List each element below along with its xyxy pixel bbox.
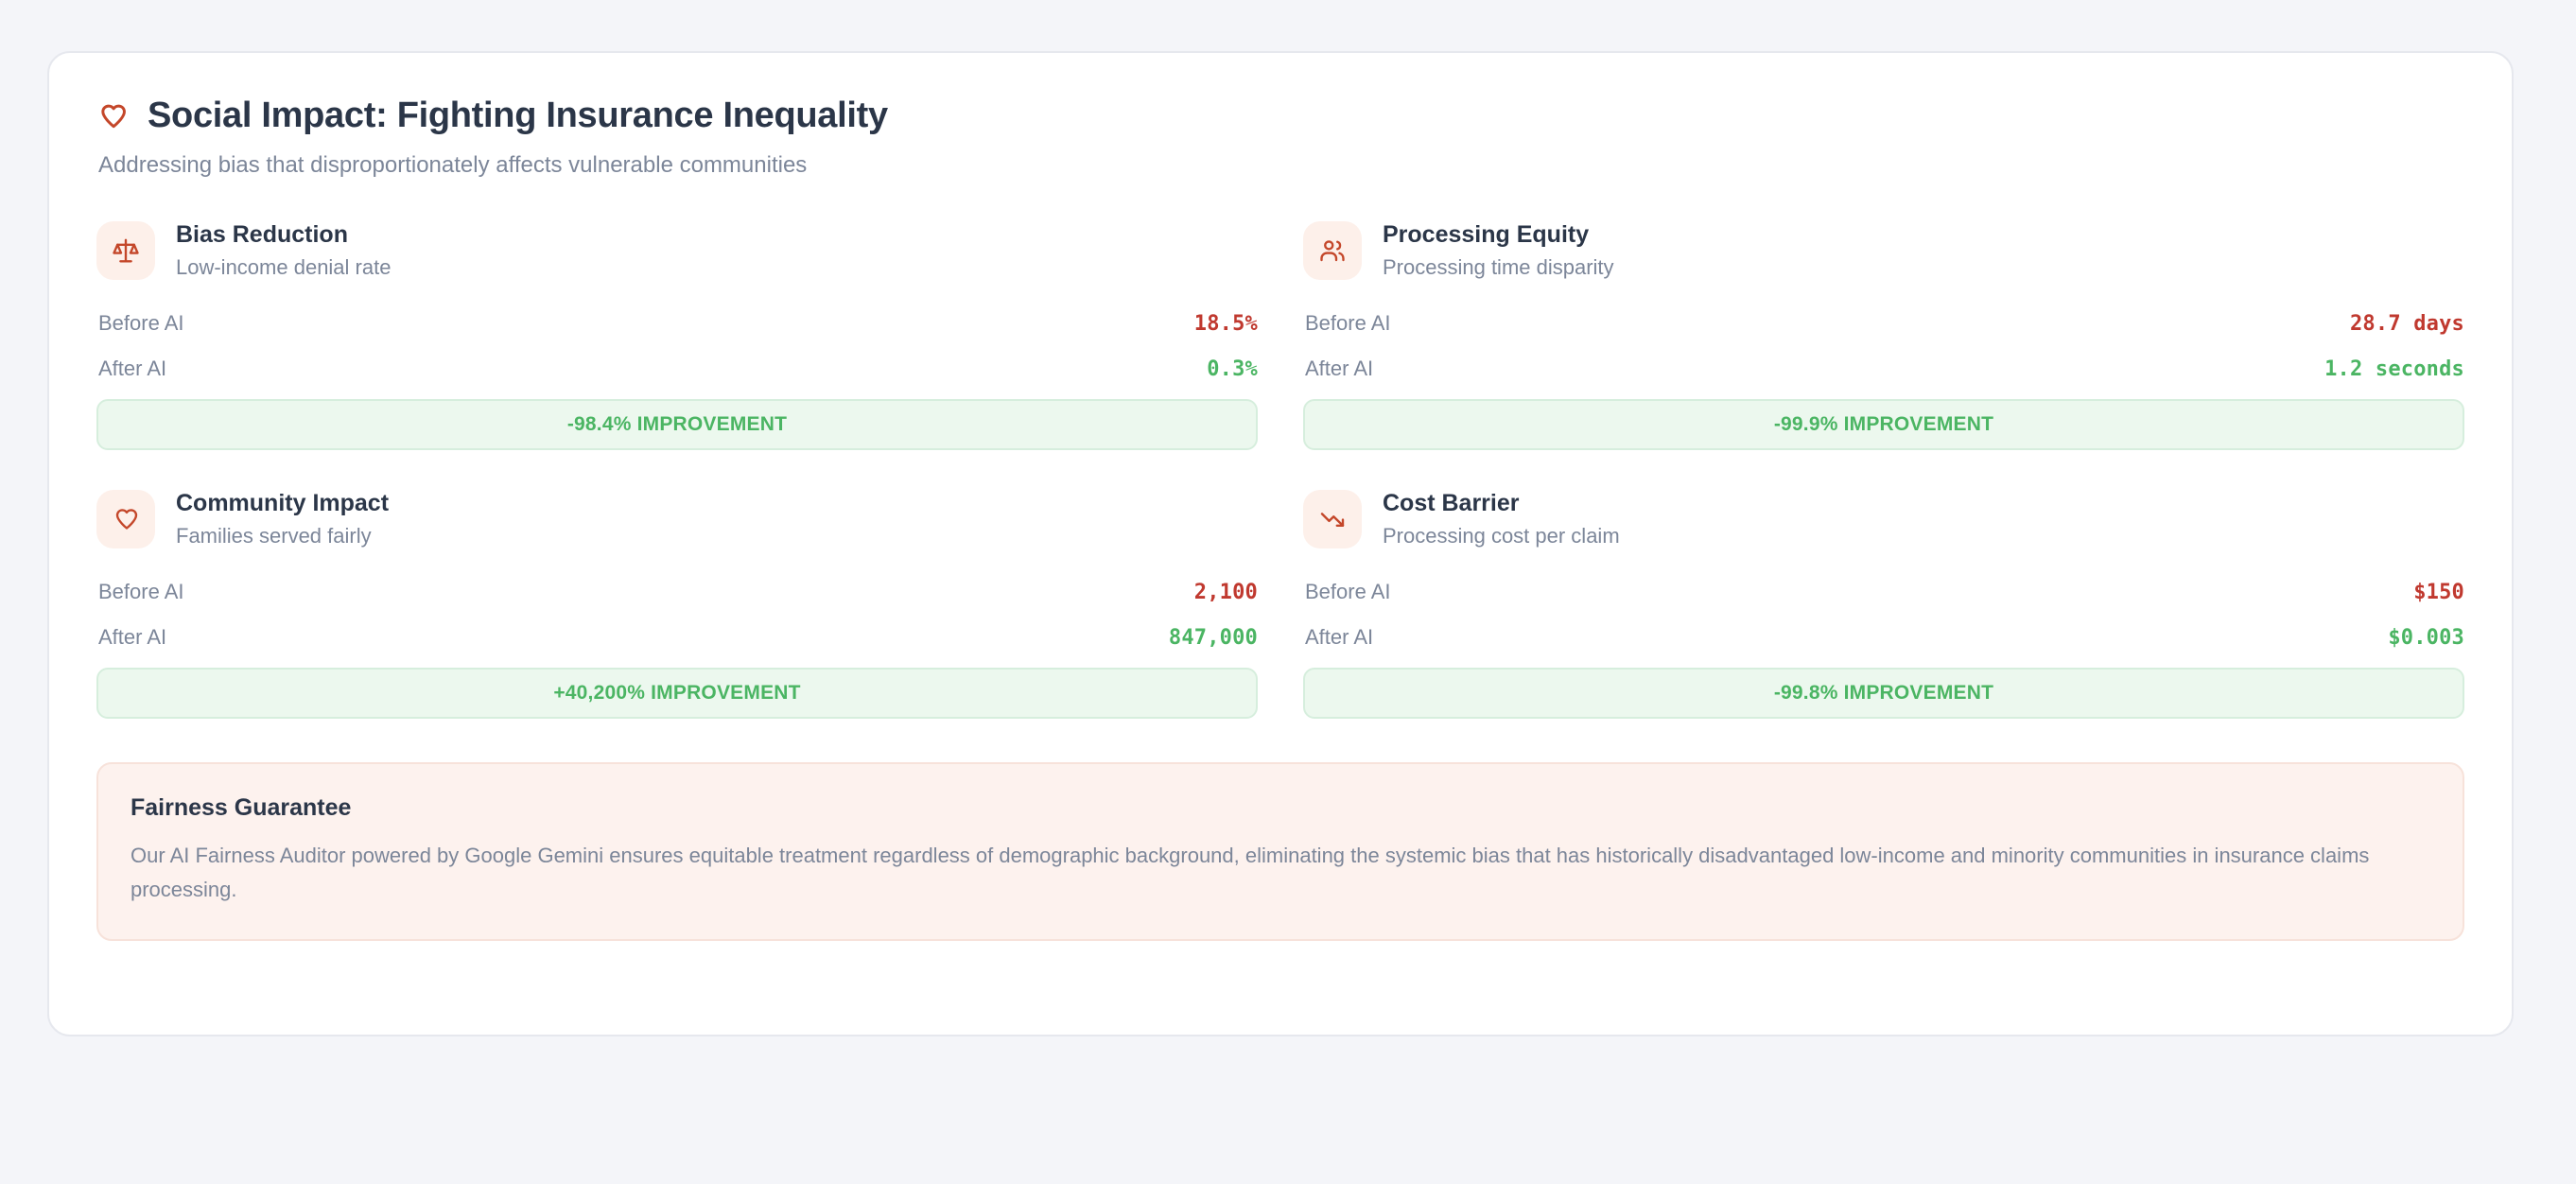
fairness-guarantee-text: Our AI Fairness Auditor powered by Googl… (131, 839, 2419, 906)
after-value: $0.003 (2388, 626, 2464, 650)
metric-label: Processing Equity (1383, 221, 1614, 249)
after-row: After AI 847,000 (96, 622, 1258, 653)
before-row: Before AI $150 (1303, 577, 2464, 607)
metric-label: Bias Reduction (176, 221, 391, 249)
trending-down-icon (1303, 490, 1362, 548)
before-value: 28.7 days (2350, 312, 2464, 336)
page-background: Social Impact: Fighting Insurance Inequa… (0, 0, 2576, 1184)
metric-card-cost-barrier: Cost Barrier Processing cost per claim B… (1303, 490, 2464, 719)
metric-label: Community Impact (176, 490, 389, 517)
metric-card-processing-equity: Processing Equity Processing time dispar… (1303, 221, 2464, 450)
before-row: Before AI 2,100 (96, 577, 1258, 607)
scales-icon (96, 221, 155, 280)
metrics-grid: Bias Reduction Low-income denial rate Be… (96, 221, 2464, 719)
title-row: Social Impact: Fighting Insurance Inequa… (96, 96, 2464, 136)
after-label: After AI (1305, 625, 1373, 650)
fairness-guarantee-title: Fairness Guarantee (131, 794, 2430, 822)
social-impact-panel: Social Impact: Fighting Insurance Inequa… (47, 51, 2514, 1036)
before-label: Before AI (98, 580, 184, 604)
page-title: Social Impact: Fighting Insurance Inequa… (148, 96, 888, 136)
metric-head: Processing Equity Processing time dispar… (1303, 221, 2464, 280)
after-row: After AI 0.3% (96, 354, 1258, 384)
before-row: Before AI 18.5% (96, 308, 1258, 339)
metric-text: Bias Reduction Low-income denial rate (176, 221, 391, 280)
improvement-badge: -99.8% IMPROVEMENT (1303, 668, 2464, 719)
before-label: Before AI (98, 311, 184, 336)
improvement-badge: +40,200% IMPROVEMENT (96, 668, 1258, 719)
before-label: Before AI (1305, 311, 1391, 336)
panel-header: Social Impact: Fighting Insurance Inequa… (96, 96, 2464, 180)
users-icon (1303, 221, 1362, 280)
before-value: $150 (2413, 581, 2464, 604)
after-value: 1.2 seconds (2324, 357, 2464, 381)
after-label: After AI (98, 357, 166, 381)
before-row: Before AI 28.7 days (1303, 308, 2464, 339)
metric-text: Cost Barrier Processing cost per claim (1383, 490, 1620, 548)
metric-text: Processing Equity Processing time dispar… (1383, 221, 1614, 280)
metric-sublabel: Processing cost per claim (1383, 524, 1620, 548)
metric-text: Community Impact Families served fairly (176, 490, 389, 548)
panel-subtitle: Addressing bias that disproportionately … (98, 150, 2464, 180)
improvement-badge: -98.4% IMPROVEMENT (96, 399, 1258, 450)
metric-head: Community Impact Families served fairly (96, 490, 1258, 548)
improvement-badge: -99.9% IMPROVEMENT (1303, 399, 2464, 450)
metric-card-bias-reduction: Bias Reduction Low-income denial rate Be… (96, 221, 1258, 450)
metric-sublabel: Low-income denial rate (176, 255, 391, 280)
metric-label: Cost Barrier (1383, 490, 1620, 517)
after-label: After AI (98, 625, 166, 650)
before-label: Before AI (1305, 580, 1391, 604)
heart-icon (96, 490, 155, 548)
fairness-guarantee-panel: Fairness Guarantee Our AI Fairness Audit… (96, 762, 2464, 940)
after-label: After AI (1305, 357, 1373, 381)
metric-head: Cost Barrier Processing cost per claim (1303, 490, 2464, 548)
metric-card-community-impact: Community Impact Families served fairly … (96, 490, 1258, 719)
after-value: 847,000 (1169, 626, 1258, 650)
after-row: After AI 1.2 seconds (1303, 354, 2464, 384)
metric-head: Bias Reduction Low-income denial rate (96, 221, 1258, 280)
metric-sublabel: Processing time disparity (1383, 255, 1614, 280)
metric-sublabel: Families served fairly (176, 524, 389, 548)
before-value: 18.5% (1194, 312, 1258, 336)
heart-icon (96, 100, 129, 132)
after-row: After AI $0.003 (1303, 622, 2464, 653)
before-value: 2,100 (1194, 581, 1258, 604)
after-value: 0.3% (1207, 357, 1258, 381)
